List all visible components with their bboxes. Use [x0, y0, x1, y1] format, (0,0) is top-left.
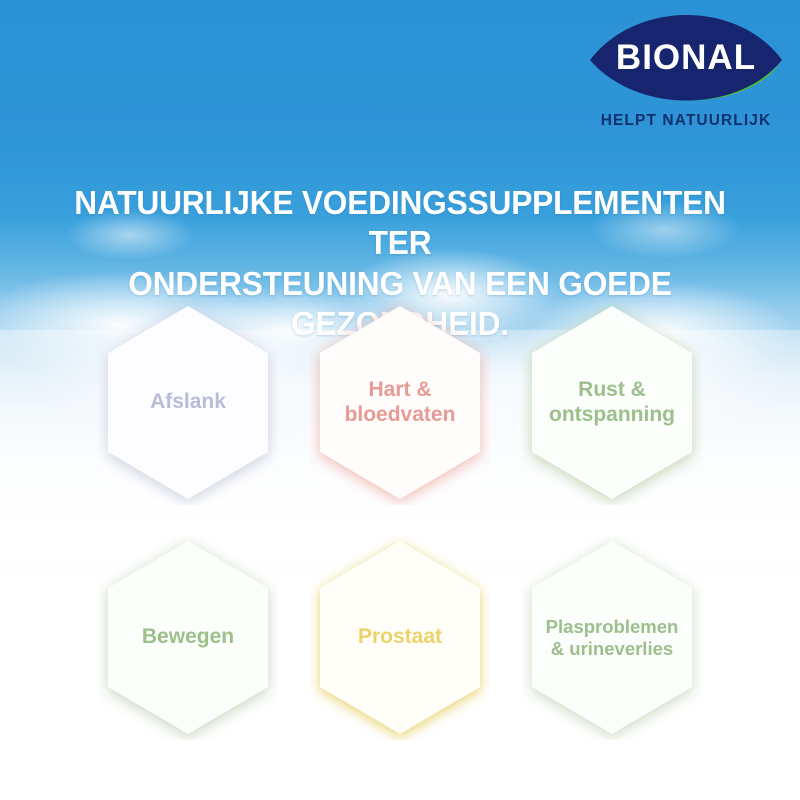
headline-line-1: NATUURLIJKE VOEDINGSSUPPLEMENTEN TER: [74, 184, 726, 261]
category-label: Prostaat: [310, 535, 490, 740]
category-row-top: Afslank Hart & bloedvaten: [0, 300, 800, 505]
category-hex-afslank[interactable]: Afslank: [98, 300, 278, 505]
bional-logo[interactable]: BIONAL HELPT NATUURLIJK: [588, 14, 784, 136]
category-hex-bewegen[interactable]: Bewegen: [98, 535, 278, 740]
category-hex-hart-bloedvaten[interactable]: Hart & bloedvaten: [310, 300, 490, 505]
category-grid: Afslank Hart & bloedvaten: [0, 300, 800, 760]
category-label: Hart & bloedvaten: [310, 300, 490, 505]
logo-mark: BIONAL: [588, 14, 784, 109]
promo-banner: BIONAL HELPT NATUURLIJK NATUURLIJKE VOED…: [0, 0, 800, 800]
category-label: Rust & ontspanning: [522, 300, 702, 505]
category-hex-plasproblemen[interactable]: Plasproblemen & urineverlies: [522, 535, 702, 740]
category-hex-prostaat[interactable]: Prostaat: [310, 535, 490, 740]
logo-wordmark: BIONAL: [588, 40, 784, 75]
category-hex-rust-ontspanning[interactable]: Rust & ontspanning: [522, 300, 702, 505]
logo-tagline: HELPT NATUURLIJK: [588, 112, 784, 130]
category-row-bottom: Bewegen Prostaat: [0, 535, 800, 740]
category-label: Afslank: [98, 300, 278, 505]
category-label: Plasproblemen & urineverlies: [522, 535, 702, 740]
category-label: Bewegen: [98, 535, 278, 740]
